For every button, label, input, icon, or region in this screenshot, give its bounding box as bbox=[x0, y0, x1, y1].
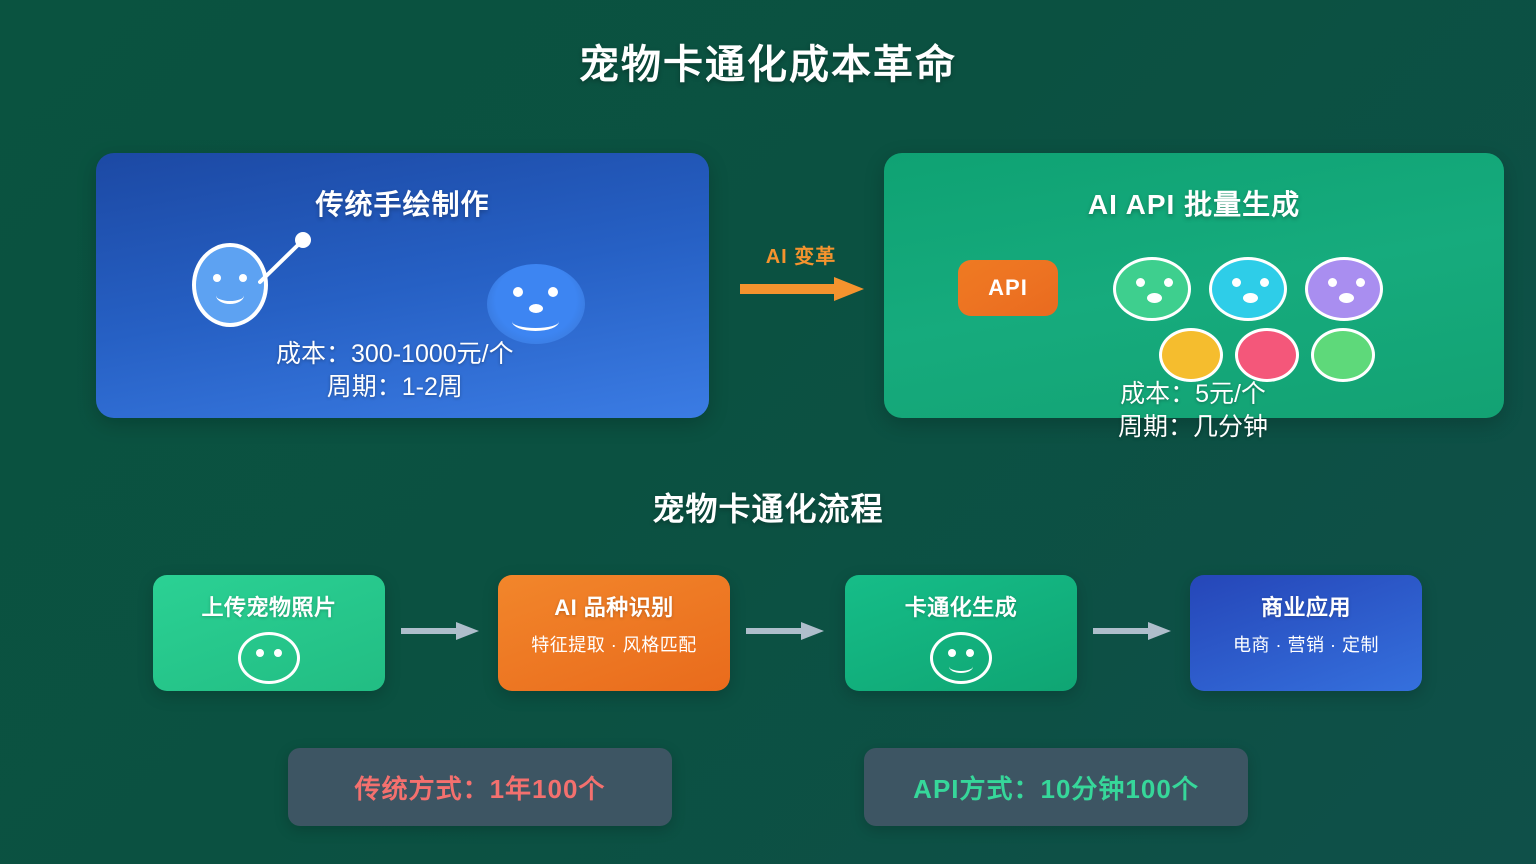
face-nose-icon bbox=[1243, 293, 1258, 303]
flow-step-title: 上传宠物照片 bbox=[153, 590, 385, 622]
face-eye-right-icon bbox=[548, 287, 558, 297]
traditional-cycle-line: 周期：1-2周 bbox=[276, 371, 514, 404]
summary-pill-traditional: 传统方式：1年100个 bbox=[288, 748, 672, 826]
face-mouth-icon bbox=[512, 312, 559, 331]
summary-pill-api: API方式：10分钟100个 bbox=[864, 748, 1248, 826]
flow-step-subtitle: 电商 · 营销 · 定制 bbox=[1190, 631, 1422, 657]
flow-step-title: 卡通化生成 bbox=[845, 590, 1077, 622]
ai-generated-face-3 bbox=[1305, 257, 1383, 321]
pet-face-icon bbox=[238, 632, 300, 684]
summary-traditional-text: 传统方式：1年100个 bbox=[355, 769, 606, 806]
infographic-canvas: 宠物卡通化成本革命 传统手绘制作 成本：300-1000元/个 周期：1-2周 … bbox=[0, 0, 1536, 864]
flow-arrow-2-icon bbox=[746, 620, 824, 642]
process-heading: 宠物卡通化流程 bbox=[0, 484, 1536, 530]
face-eye-left-icon bbox=[256, 649, 264, 657]
api-badge: API bbox=[958, 260, 1058, 316]
ai-generated-dot-2 bbox=[1235, 328, 1299, 382]
flow-arrow-1-icon bbox=[401, 620, 479, 642]
face-eye-left-icon bbox=[1328, 278, 1337, 287]
face-eye-left-icon bbox=[948, 649, 956, 657]
flow-step-title: AI 品种识别 bbox=[498, 590, 730, 622]
face-eye-left-icon bbox=[1232, 278, 1241, 287]
ai-generated-face-2 bbox=[1209, 257, 1287, 321]
smiley-face-icon bbox=[930, 632, 992, 684]
ai-generated-face-1 bbox=[1113, 257, 1191, 321]
face-eye-right-icon bbox=[1164, 278, 1173, 287]
transform-arrow-icon bbox=[740, 276, 864, 302]
face-eye-right-icon bbox=[274, 649, 282, 657]
face-eye-right-icon bbox=[239, 274, 247, 282]
face-nose-icon bbox=[1339, 293, 1354, 303]
summary-api-text: API方式：10分钟100个 bbox=[913, 769, 1199, 806]
flow-step-cartoon-generation[interactable]: 卡通化生成 bbox=[845, 575, 1077, 691]
face-nose-icon bbox=[1147, 293, 1162, 303]
pencil-stroke-icon bbox=[258, 232, 312, 286]
glowing-pet-face-icon bbox=[487, 264, 585, 344]
face-eye-right-icon bbox=[966, 649, 974, 657]
traditional-cost-line: 成本：300-1000元/个 bbox=[276, 338, 514, 371]
ai-generated-dot-1 bbox=[1159, 328, 1223, 382]
flow-step-title: 商业应用 bbox=[1190, 590, 1422, 622]
flow-step-breed-recognition[interactable]: AI 品种识别 特征提取 · 风格匹配 bbox=[498, 575, 730, 691]
flow-arrow-3-icon bbox=[1093, 620, 1171, 642]
handdrawn-face-icon bbox=[192, 243, 268, 327]
transform-label: AI 变革 bbox=[716, 240, 886, 269]
panel-traditional-title: 传统手绘制作 bbox=[96, 183, 709, 223]
ai-stats: 成本：5元/个 周期：几分钟 bbox=[1118, 378, 1268, 444]
ai-cost-line: 成本：5元/个 bbox=[1118, 378, 1268, 411]
face-eye-left-icon bbox=[513, 287, 523, 297]
ai-cycle-line: 周期：几分钟 bbox=[1118, 411, 1268, 444]
face-eye-right-icon bbox=[1356, 278, 1365, 287]
flow-step-business-application[interactable]: 商业应用 电商 · 营销 · 定制 bbox=[1190, 575, 1422, 691]
flow-step-upload-photo[interactable]: 上传宠物照片 bbox=[153, 575, 385, 691]
face-eye-right-icon bbox=[1260, 278, 1269, 287]
face-eye-left-icon bbox=[213, 274, 221, 282]
page-title: 宠物卡通化成本革命 bbox=[0, 32, 1536, 90]
panel-ai-title: AI API 批量生成 bbox=[884, 183, 1504, 223]
traditional-stats: 成本：300-1000元/个 周期：1-2周 bbox=[276, 338, 514, 404]
face-eye-left-icon bbox=[1136, 278, 1145, 287]
face-mouth-icon bbox=[216, 287, 244, 304]
face-smile-icon bbox=[949, 660, 973, 673]
ai-generated-dot-3 bbox=[1311, 328, 1375, 382]
flow-step-subtitle: 特征提取 · 风格匹配 bbox=[498, 631, 730, 657]
